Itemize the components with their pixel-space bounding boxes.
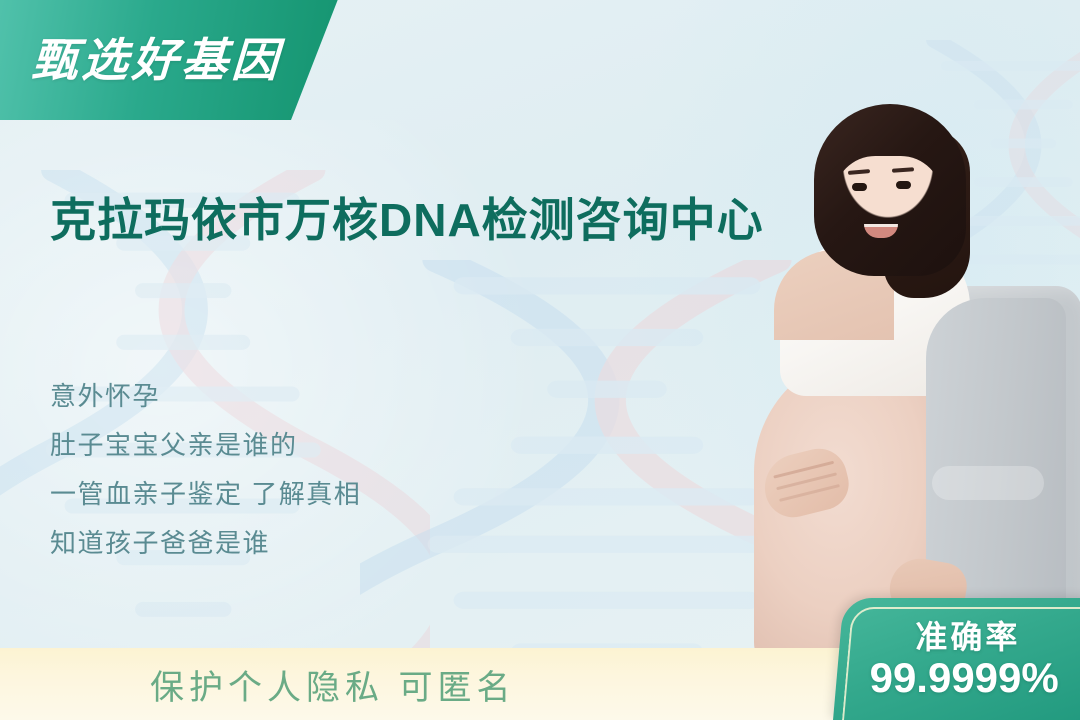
brand-banner: 甄选好基因 [0,0,340,120]
page-title: 克拉玛依市万核DNA检测咨询中心 [50,191,820,251]
brand-banner-label: 甄选好基因 [30,24,283,90]
accuracy-badge-value: 99.9999% [837,654,1080,702]
copy-line: 肚子宝宝父亲是谁的 [50,421,570,470]
copy-line: 知道孩子爸爸是谁 [50,519,570,568]
copy-line: 一管血亲子鉴定 了解真相 [50,470,570,519]
accuracy-badge-label: 准确率 [840,612,1080,658]
marketing-copy-block: 意外怀孕 肚子宝宝父亲是谁的 一管血亲子鉴定 了解真相 知道孩子爸爸是谁 [50,372,570,568]
privacy-bar-label: 保护个人隐私 可匿名 [150,660,515,709]
accuracy-badge: 准确率 99.9999% [833,598,1080,720]
eye-left-shape [852,183,867,191]
promo-poster: 甄选好基因 克拉玛依市万核DNA检测咨询中心 意外怀孕 肚子宝宝父亲是谁的 一管… [0,0,1080,720]
eye-right-shape [896,181,911,189]
hair-shape [814,104,966,276]
copy-line: 意外怀孕 [50,372,570,421]
